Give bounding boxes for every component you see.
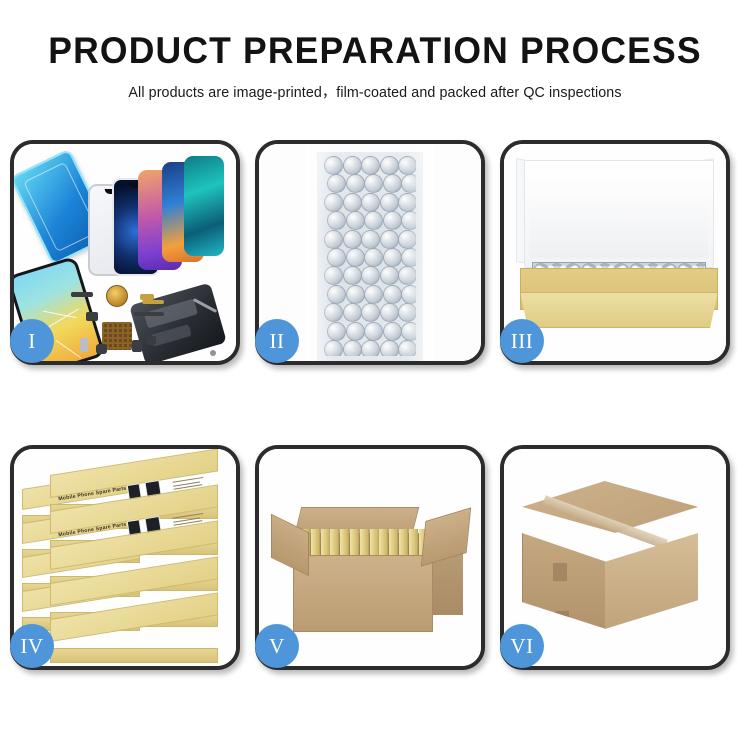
phone-teal-icon: [184, 156, 224, 256]
step-badge-2: II: [255, 319, 299, 363]
header: PRODUCT PREPARATION PROCESS All products…: [0, 30, 750, 102]
steps-grid: I II III: [0, 140, 750, 680]
step-badge-6: VI: [500, 624, 544, 668]
page-title: PRODUCT PREPARATION PROCESS: [15, 30, 735, 72]
battery-connector-icon: [132, 340, 142, 352]
carton-handle-tab-icon: [553, 563, 567, 581]
step-panel-bubble-wrap-packing[interactable]: II: [255, 140, 485, 365]
sealed-shipping-carton: [522, 481, 712, 641]
open-shipping-carton: [283, 507, 463, 632]
carton-front-left-panel: [522, 533, 606, 629]
speaker-module-icon: [106, 285, 128, 307]
step-badge-4: IV: [10, 624, 54, 668]
step-panel-inner-box-packing[interactable]: III: [500, 140, 730, 365]
carton-front-panel: [293, 555, 433, 632]
step-panel-carton-filling[interactable]: V: [255, 445, 485, 670]
bracket-part-icon: [86, 312, 98, 321]
step-panel-products-and-spare-parts[interactable]: I: [10, 140, 240, 365]
flex-cable-gold-icon: [142, 300, 164, 304]
step-badge-5: V: [255, 624, 299, 668]
carton-front-right-panel: [605, 533, 698, 629]
step-panel-carton-sealed[interactable]: VI: [500, 445, 730, 670]
foam-sheet-icon: [530, 196, 708, 258]
step-badge-3: III: [500, 319, 544, 363]
page-subtitle: All products are image-printed，film-coat…: [6, 81, 745, 102]
screws-icon: [210, 350, 216, 356]
step-panel-boxes-stacked[interactable]: Mobile Phone Spare Parts Mobile Phone Sp…: [10, 445, 240, 670]
camera-part-icon: [96, 344, 107, 354]
kraft-box-stack: Mobile Phone Spare Parts Mobile Phone Sp…: [22, 471, 236, 661]
kraft-box-item: [50, 619, 218, 663]
vibrator-part-icon: [147, 336, 156, 345]
step-badge-1: I: [10, 319, 54, 363]
sim-tray-part-icon: [80, 338, 88, 352]
flex-cable-icon: [134, 312, 164, 316]
connector-part-icon: [71, 292, 93, 297]
kraft-box-front-icon: [520, 292, 718, 328]
product-preparation-infographic: PRODUCT PREPARATION PROCESS All products…: [0, 0, 750, 750]
carton-handle-tab-icon: [555, 611, 569, 629]
wrap-highlight: [306, 144, 434, 361]
